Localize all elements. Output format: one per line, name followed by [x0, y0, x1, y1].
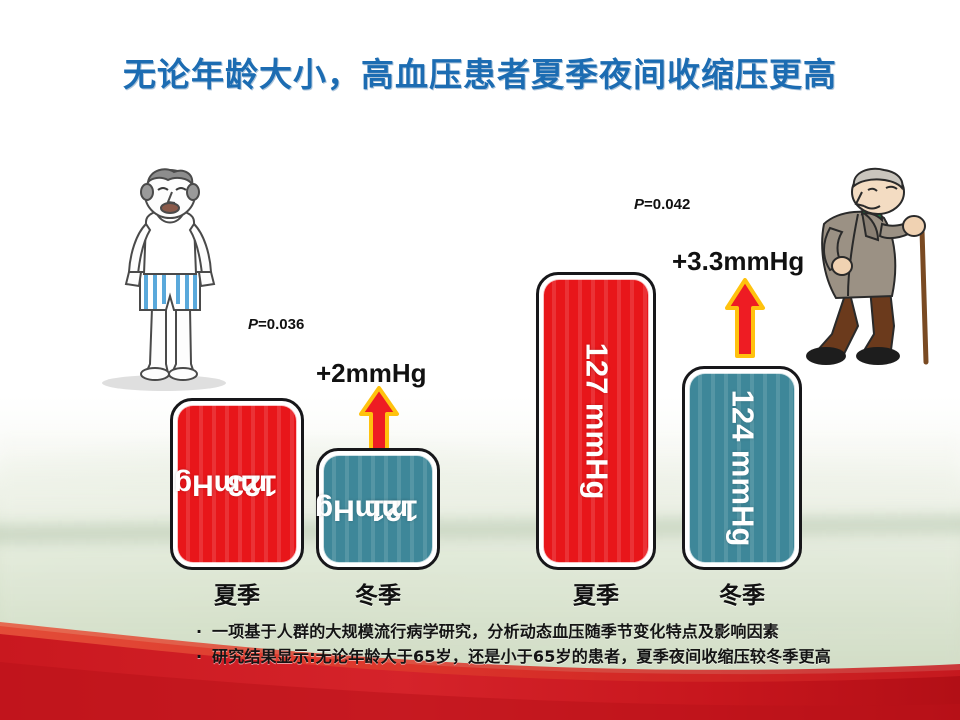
season-label-group1-summer: 夏季	[170, 576, 304, 610]
bullet-item-2: · 研究结果显示:无论年龄大于65岁，还是小于65岁的患者，夏季夜间收缩压较冬季…	[196, 645, 956, 670]
bar-value-text: 127 mmHg	[578, 343, 614, 500]
delta-label-group-1: +2mmHg	[316, 358, 427, 389]
p-value-number-1: =0.036	[258, 316, 304, 333]
season-label-group1-winter: 冬季	[316, 576, 440, 610]
p-value-number-2: =0.042	[644, 196, 690, 213]
season-label-group2-winter: 冬季	[682, 576, 802, 610]
bar-group1-summer: 123mmHg	[170, 398, 304, 570]
bar-value-label-group1-winter: 121mmHg	[319, 451, 437, 567]
bar-value-text: 124 mmHg	[724, 390, 760, 547]
up-arrow-icon-group-2	[724, 278, 766, 360]
elderly-man-cane-cartoon-icon	[786, 166, 958, 384]
summer-man-cartoon-icon	[96, 168, 276, 393]
bullet-dot-icon: ·	[196, 620, 212, 645]
bar-group2-winter: 124 mmHg	[682, 366, 802, 570]
bar-value-label-group1-summer: 123mmHg	[173, 401, 301, 567]
bar-value-unit: mmHg	[175, 468, 268, 500]
bullet-dot-icon: ·	[196, 645, 212, 670]
bar-value-unit: mmHg	[316, 493, 409, 525]
footer-bullet-list: · 一项基于人群的大规模流行病学研究，分析动态血压随季节变化特点及影响因素 · …	[196, 620, 956, 670]
season-label-group2-summer: 夏季	[536, 576, 656, 610]
slide-canvas: 无论年龄大小，高血压患者夏季夜间收缩压更高	[0, 0, 960, 720]
bullet-item-1: · 一项基于人群的大规模流行病学研究，分析动态血压随季节变化特点及影响因素	[196, 620, 956, 645]
p-value-group-1: P=0.036	[248, 316, 304, 333]
up-arrow-icon-group-1	[358, 386, 400, 456]
p-value-symbol-1: P	[248, 316, 258, 333]
bullet-text-1: 一项基于人群的大规模流行病学研究，分析动态血压随季节变化特点及影响因素	[212, 620, 779, 645]
p-value-group-2: P=0.042	[634, 196, 690, 213]
bar-group2-summer: 127 mmHg	[536, 272, 656, 570]
page-title: 无论年龄大小，高血压患者夏季夜间收缩压更高	[0, 48, 960, 96]
p-value-symbol-2: P	[634, 196, 644, 213]
delta-label-group-2: +3.3mmHg	[672, 246, 804, 277]
bar-group1-winter: 121mmHg	[316, 448, 440, 570]
bullet-text-2: 研究结果显示:无论年龄大于65岁，还是小于65岁的患者，夏季夜间收缩压较冬季更高	[212, 645, 831, 670]
bar-value-label-group2-winter: 124 mmHg	[685, 369, 799, 567]
bar-value-label-group2-summer: 127 mmHg	[539, 275, 653, 567]
